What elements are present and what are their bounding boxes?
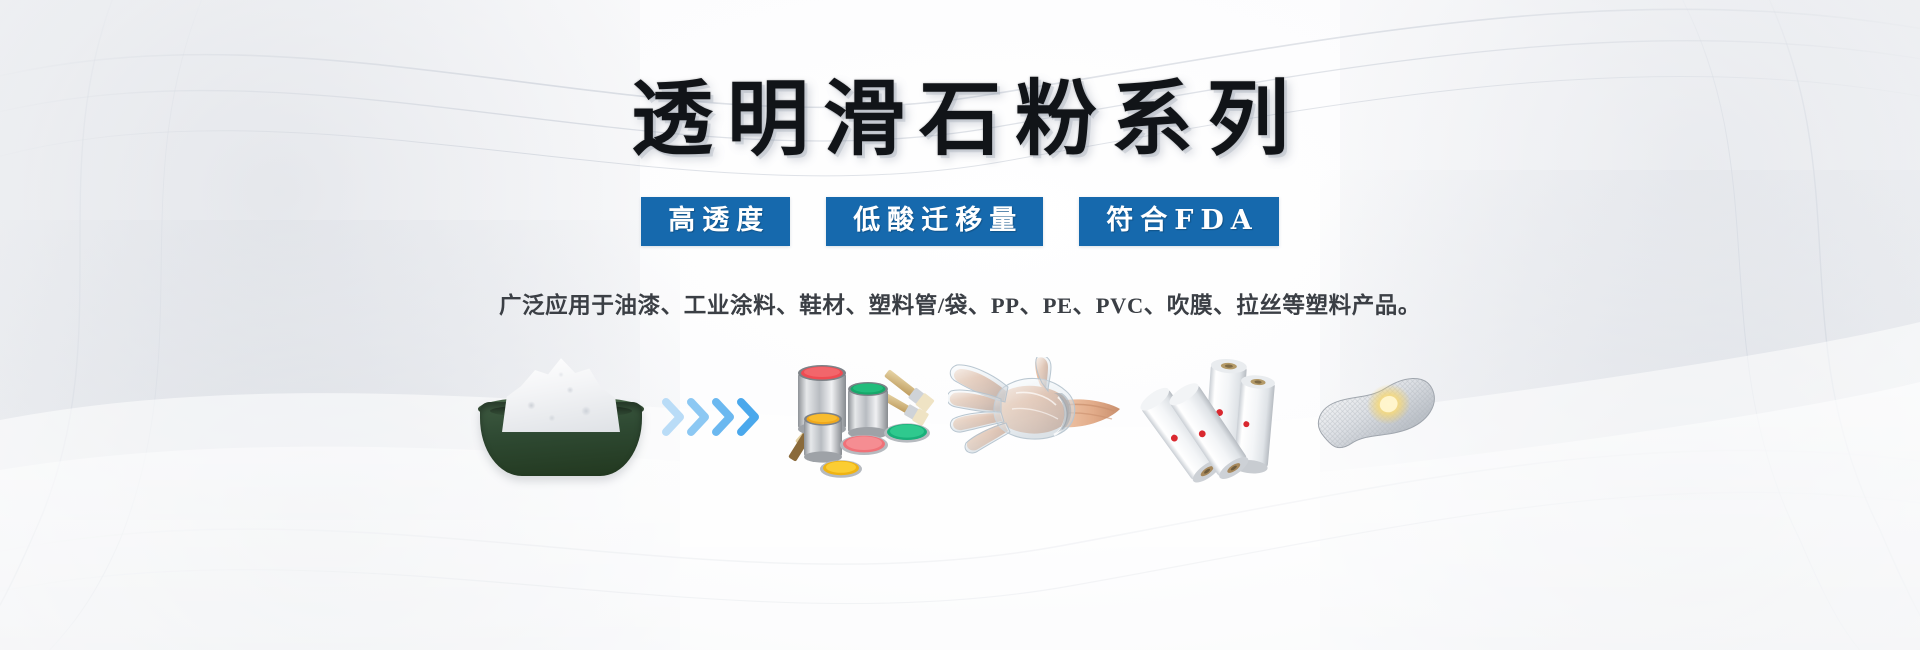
chevron-right-icon	[660, 390, 772, 444]
paint-cans-image	[782, 351, 942, 483]
banner-content: 透明滑石粉系列 高透度 低酸迁移量 符合FDA 广泛应用于油漆、工业涂料、鞋材、…	[0, 0, 1920, 650]
process-arrows-icon	[660, 387, 772, 447]
feature-badge-row: 高透度 低酸迁移量 符合FDA	[641, 197, 1279, 246]
application-description: 广泛应用于油漆、工业涂料、鞋材、塑料管/袋、PP、PE、PVC、吹膜、拉丝等塑料…	[499, 288, 1421, 320]
badge-high-transparency[interactable]: 高透度	[641, 197, 790, 246]
badge-fda-compliant[interactable]: 符合FDA	[1079, 197, 1279, 246]
talc-powder-texture	[504, 362, 618, 432]
paint-cans-svg	[782, 351, 942, 483]
paint-can-yellow	[804, 413, 842, 463]
plastic-glove-hand-image	[948, 357, 1124, 477]
glove-hand-svg	[948, 357, 1124, 477]
plastic-film-rolls-image	[1130, 351, 1290, 483]
shoe-sole-image	[1296, 357, 1446, 477]
film-rolls-svg	[1130, 351, 1290, 483]
product-application-strip	[410, 342, 1510, 492]
paint-can-green	[848, 382, 888, 439]
badge-low-acid-migration[interactable]: 低酸迁移量	[826, 197, 1043, 246]
page-title: 透明滑石粉系列	[617, 78, 1303, 160]
shoe-sole-svg	[1296, 357, 1446, 477]
talc-powder-bowl-image	[474, 354, 650, 480]
product-banner: 透明滑石粉系列 高透度 低酸迁移量 符合FDA 广泛应用于油漆、工业涂料、鞋材、…	[0, 0, 1920, 650]
